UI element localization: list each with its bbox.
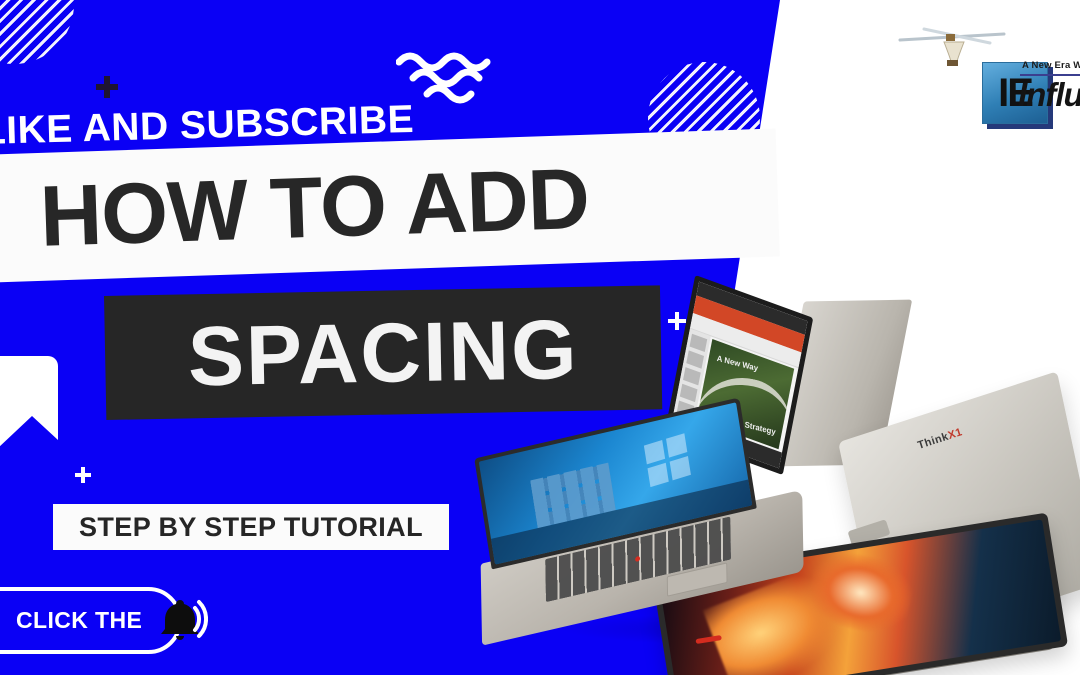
youtube-thumbnail: LIKE AND SUBSCRIBE HOW TO ADD SPACING ST…	[0, 0, 1080, 675]
logo-brand-name: Influx	[1018, 76, 1080, 114]
subtitle-banner: STEP BY STEP TUTORIAL	[53, 504, 449, 550]
brand-logo: IE A New Era With Influx	[890, 22, 1080, 126]
logo-tagline: A New Era With	[1022, 60, 1080, 71]
helicopter-rotor-bulb-icon	[898, 24, 1008, 66]
diagonal-arrow-badge-icon	[0, 344, 67, 452]
slide-title: A New Way	[716, 354, 758, 373]
page-title-line1: HOW TO ADD	[39, 156, 591, 260]
subtitle-text: STEP BY STEP TUTORIAL	[79, 512, 423, 543]
laptop-product-group: A New Way 2021 Strategy ThinkX1	[455, 285, 1080, 675]
plus-mark-icon	[96, 76, 118, 98]
click-the-label: CLICK THE	[16, 607, 142, 634]
click-the-bell-cta[interactable]: CLICK THE	[0, 587, 182, 654]
windows-logo-icon	[644, 433, 691, 487]
wavy-lines-icon	[396, 48, 506, 104]
title-banner-primary: HOW TO ADD	[0, 128, 780, 282]
plus-mark-icon	[75, 467, 91, 483]
bell-icon	[154, 598, 208, 644]
